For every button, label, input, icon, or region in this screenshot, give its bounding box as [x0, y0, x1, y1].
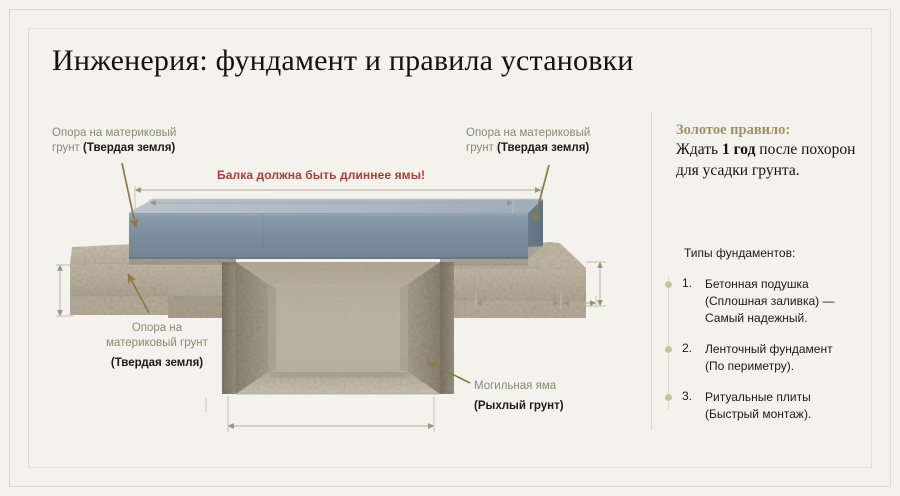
annotation-line-2-plain: грунт [466, 142, 497, 154]
list-item[interactable]: 2. Ленточный фундамент (По периметру). [660, 341, 890, 375]
annotation-line-2: грунт (Твердая земля) [52, 141, 262, 156]
concrete-beam [129, 199, 549, 266]
list-item[interactable]: 1. Бетонная подушка (Сплошная заливка) —… [660, 276, 890, 327]
annotation-line-3-bold: (Твердая земля) [111, 357, 203, 369]
foundation-types-heading: Типы фундаментов: [684, 246, 795, 260]
list-item-line: Ритуальные плиты [705, 389, 890, 406]
annotation-grave-pit: Могильная яма (Рыхлый грунт) [474, 379, 664, 415]
list-item-line: Ленточный фундамент [705, 341, 890, 358]
golden-rule-heading: Золотое правило: [676, 122, 876, 139]
bullet-dot-icon [665, 346, 672, 353]
list-item[interactable]: 3. Ритуальные плиты (Быстрый монтаж). [660, 389, 890, 423]
list-item-line: Самый надежный. [705, 310, 890, 327]
list-item-line: (Сплошная заливка) — [705, 293, 890, 310]
annotation-line-1: Опора на материковый [466, 126, 666, 141]
annotation-line-1: Опора на материковый [52, 126, 262, 141]
bullet-dot-icon [665, 281, 672, 288]
golden-rule-body: Ждать 1 год после похорон для усадки гру… [676, 140, 876, 181]
list-item-number: 1. [682, 276, 692, 290]
annotation-line-2: грунт (Твердая земля) [466, 141, 666, 156]
list-item-line: (Быстрый монтаж). [705, 406, 890, 423]
golden-rule-body-part1: Ждать [676, 141, 722, 158]
grave-pit [222, 262, 454, 394]
annotation-support-bottom-left: Опора на материковый грунт (Твердая земл… [62, 321, 252, 372]
annotation-support-top-left: Опора на материковый грунт (Твердая земл… [52, 126, 262, 156]
slide-root: Инженерия: фундамент и правила установки [0, 0, 900, 496]
annotation-line-1: Могильная яма [474, 379, 664, 394]
annotation-line-3: (Твердая земля) [62, 351, 252, 372]
annotation-line-2: материковый грунт [62, 336, 252, 351]
golden-rule-block: Золотое правило: Ждать 1 год после похор… [676, 122, 876, 181]
list-item-line: (По периметру). [705, 358, 890, 375]
list-item-number: 3. [682, 389, 692, 403]
annotation-line-2-bold: (Рыхлый грунт) [474, 400, 564, 412]
annotation-line-2-plain: грунт [52, 142, 83, 154]
foundation-diagram [0, 0, 660, 496]
list-item-text: Ленточный фундамент (По периметру). [705, 341, 890, 375]
list-item-line: Бетонная подушка [705, 276, 890, 293]
annotation-support-top-right: Опора на материковый грунт (Твердая земл… [466, 126, 666, 156]
golden-rule-emphasis: 1 год [722, 141, 755, 158]
annotation-line-2-bold: (Твердая земля) [83, 142, 175, 154]
foundation-types-list: 1. Бетонная подушка (Сплошная заливка) —… [660, 276, 890, 437]
beam-warning-label: Балка должна быть длиннее ямы! [217, 168, 425, 182]
list-item-text: Ритуальные плиты (Быстрый монтаж). [705, 389, 890, 423]
annotation-line-2: (Рыхлый грунт) [474, 394, 664, 415]
bullet-dot-icon [665, 394, 672, 401]
list-item-text: Бетонная подушка (Сплошная заливка) — Са… [705, 276, 890, 327]
annotation-line-2-bold: (Твердая земля) [497, 142, 589, 154]
annotation-line-1: Опора на [62, 321, 252, 336]
list-item-number: 2. [682, 341, 692, 355]
